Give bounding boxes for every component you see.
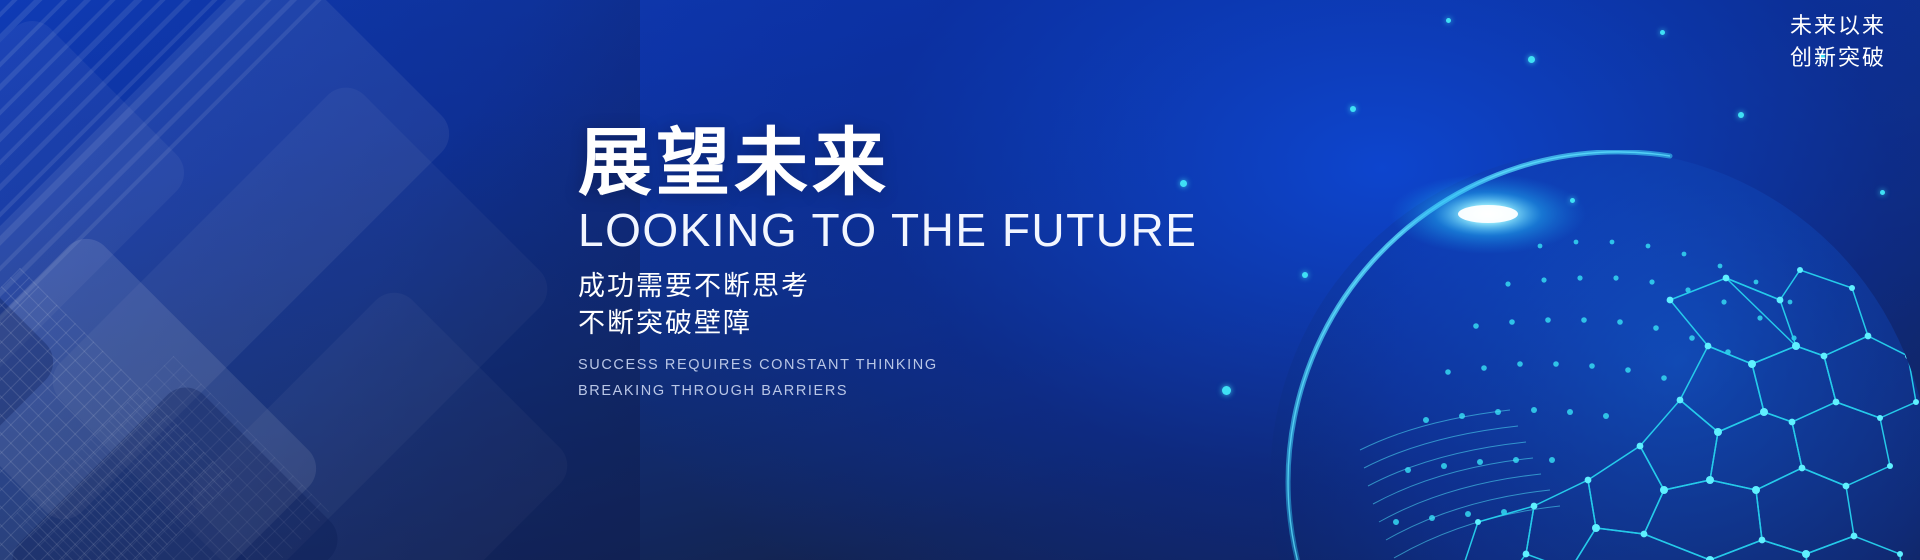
geometric-plate — [42, 77, 558, 560]
diagonal-stripe — [0, 0, 519, 460]
geometric-plate — [2, 377, 348, 560]
diagonal-stripe — [0, 0, 265, 460]
floating-star — [1350, 106, 1356, 112]
wireframe-globe — [1240, 150, 1920, 560]
corner-slogan-line-2: 创新突破 — [1790, 42, 1886, 74]
diagonal-stripe — [0, 0, 465, 460]
diagonal-stripe — [0, 0, 169, 460]
globe-sphere — [1270, 150, 1920, 560]
diagonal-stripe — [0, 0, 544, 461]
diagonal-stripe — [0, 0, 363, 460]
checkered-dot-grid — [0, 268, 232, 560]
diagonal-stripe — [0, 0, 144, 461]
globe-limb-line — [1288, 152, 1670, 560]
left-geometric-decoration — [0, 0, 640, 560]
floating-star — [1446, 18, 1451, 23]
floating-star — [1528, 56, 1535, 63]
globe-hotspot-core — [1458, 205, 1518, 223]
globe-dot-field — [1387, 240, 1797, 560]
diagonal-stripe — [0, 0, 438, 461]
tagline-chinese-line-2: 不断突破壁障 — [578, 305, 1278, 341]
diagonal-stripe — [0, 0, 413, 460]
page-subtitle-english: LOOKING TO THE FUTURE — [578, 206, 1278, 254]
geometric-plate — [0, 206, 64, 560]
tagline-chinese-line-1: 成功需要不断思考 — [578, 268, 1278, 304]
geometric-plate — [0, 10, 195, 470]
diagonal-stripe — [0, 0, 217, 460]
corner-slogan: 未来以来 创新突破 — [1790, 10, 1886, 74]
tagline-english-line-1: SUCCESS REQUIRES CONSTANT THINKING — [578, 353, 1278, 378]
banner-root: 展望未来 LOOKING TO THE FUTURE 成功需要不断思考 不断突破… — [0, 0, 1920, 560]
tagline-english-line-2: BREAKING THROUGH BARRIERS — [578, 379, 1278, 404]
headline-copy-block: 展望未来 LOOKING TO THE FUTURE 成功需要不断思考 不断突破… — [578, 126, 1278, 404]
diagonal-stripe — [0, 0, 388, 461]
diagonal-stripe — [0, 0, 491, 462]
floating-star — [1880, 190, 1885, 195]
floating-star — [1570, 198, 1575, 203]
left-fade-overlay — [0, 0, 640, 560]
diagonal-stripe — [0, 0, 338, 461]
floating-star — [1738, 112, 1744, 118]
diagonal-stripe — [0, 0, 315, 460]
diagonal-stripe — [0, 0, 240, 461]
diagonal-stripe — [0, 0, 288, 461]
globe-limb-glow — [1288, 152, 1670, 560]
floating-star — [1660, 30, 1665, 35]
geometric-plate — [0, 0, 460, 530]
floating-star — [1302, 272, 1308, 278]
page-title: 展望未来 — [578, 126, 1278, 200]
diagonal-stripe — [0, 0, 569, 460]
globe-mesh-nodes — [1447, 267, 1920, 560]
diagonal-stripe — [0, 0, 192, 461]
globe-hotspot — [1390, 174, 1586, 254]
checkered-dot-grid — [11, 356, 329, 560]
globe-meridian-hatch — [1360, 410, 1560, 558]
corner-slogan-line-1: 未来以来 — [1790, 10, 1886, 42]
geometric-plate — [0, 228, 327, 560]
globe-polygon-mesh — [1450, 270, 1920, 560]
diagonal-stripe — [0, 0, 121, 460]
geometric-plate — [182, 282, 578, 560]
